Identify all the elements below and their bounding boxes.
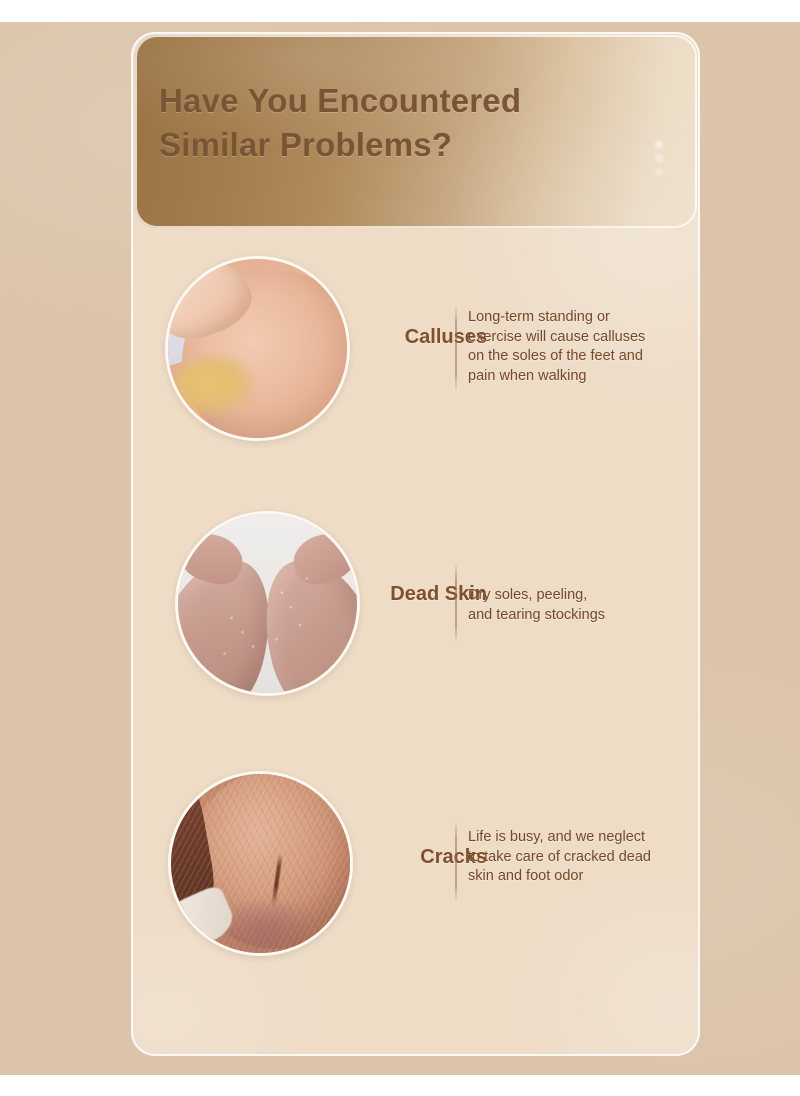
header-banner: Have You Encountered Similar Problems? <box>135 35 697 228</box>
problem-description-dead-skin: Dry soles, peeling, and tearing stocking… <box>468 586 694 625</box>
dead-skin-photo <box>175 511 360 696</box>
cracks-photo <box>168 771 353 956</box>
row-divider <box>455 304 457 392</box>
dead-skin-photo-frame <box>175 511 360 696</box>
cracks-photo-frame <box>168 771 353 956</box>
problem-description-cracks: Life is busy, and we neglect to take car… <box>468 828 694 887</box>
callus-photo <box>165 256 350 441</box>
row-divider <box>455 563 457 643</box>
problem-row-cracks: Cracks Life is busy, and we neglect to t… <box>131 763 700 968</box>
dot-column-decoration-icon <box>652 140 666 186</box>
page-title: Have You Encountered Similar Problems? <box>159 79 629 167</box>
callus-photo-frame <box>165 256 350 441</box>
row-divider <box>455 821 457 903</box>
problem-row-calluses: Calluses Long-term standing or exercise … <box>131 248 700 453</box>
problem-description-calluses: Long-term standing or exercise will caus… <box>468 308 694 386</box>
page-root: Have You Encountered Similar Problems? C… <box>0 0 800 1096</box>
problem-row-dead-skin: Dead Skin Dry soles, peeling, and tearin… <box>131 505 700 710</box>
